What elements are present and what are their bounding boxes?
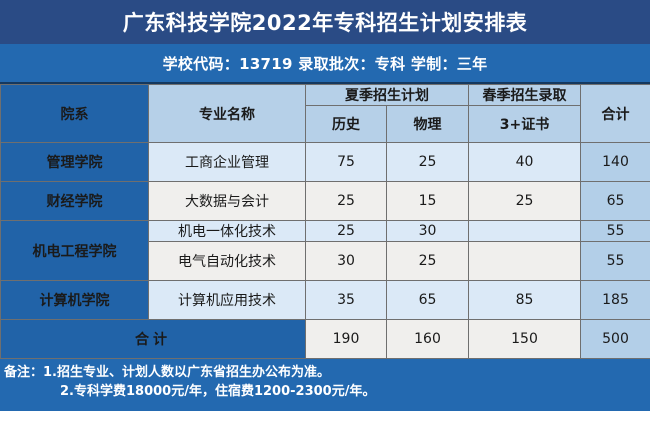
cell-cert [469,242,581,281]
cell-total-sum: 500 [581,320,650,359]
cell-major: 计算机应用技术 [149,281,306,320]
page-title: 广东科技学院2022年专科招生计划安排表 [0,0,650,44]
table-row: 财经学院 大数据与会计 25 15 25 65 [1,182,650,221]
table-header-row-1: 院系 专业名称 夏季招生计划 春季招生录取 合计 [1,85,650,106]
cell-physics: 15 [387,182,469,221]
note-line-2: 2.专科学费18000元/年，住宿费1200-2300元/年。 [4,382,650,401]
cell-major: 工商企业管理 [149,143,306,182]
cell-cert: 25 [469,182,581,221]
cell-total-cert: 150 [469,320,581,359]
cell-physics: 25 [387,143,469,182]
cell-dept: 管理学院 [1,143,149,182]
cell-physics: 30 [387,221,469,242]
table-total-row: 合计 190 160 150 500 [1,320,650,359]
column-header-spring-group: 春季招生录取 [469,85,581,106]
cell-major: 大数据与会计 [149,182,306,221]
cell-total: 55 [581,242,650,281]
cell-cert: 40 [469,143,581,182]
column-header-summer-group: 夏季招生计划 [306,85,469,106]
cell-cert [469,221,581,242]
cell-physics: 25 [387,242,469,281]
column-header-physics: 物理 [387,106,469,143]
cell-history: 30 [306,242,387,281]
table-row: 管理学院 工商企业管理 75 25 40 140 [1,143,650,182]
cell-total: 140 [581,143,650,182]
cell-total: 55 [581,221,650,242]
cell-total-label: 合计 [1,320,306,359]
column-header-history: 历史 [306,106,387,143]
enrollment-table: 院系 专业名称 夏季招生计划 春季招生录取 合计 历史 物理 3+证书 管理学院… [0,84,650,359]
table-row: 机电工程学院 机电一体化技术 25 30 55 [1,221,650,242]
column-header-total: 合计 [581,85,650,143]
note-line-1: 备注：1.招生专业、计划人数以广东省招生办公布为准。 [4,363,650,382]
cell-dept: 计算机学院 [1,281,149,320]
cell-total: 65 [581,182,650,221]
school-info-subtitle: 学校代码：13719 录取批次：专科 学制：三年 [0,44,650,84]
cell-major: 电气自动化技术 [149,242,306,281]
column-header-cert: 3+证书 [469,106,581,143]
cell-physics: 65 [387,281,469,320]
cell-major: 机电一体化技术 [149,221,306,242]
cell-dept: 机电工程学院 [1,221,149,281]
cell-history: 35 [306,281,387,320]
cell-total-physics: 160 [387,320,469,359]
cell-cert: 85 [469,281,581,320]
cell-total: 185 [581,281,650,320]
cell-dept: 财经学院 [1,182,149,221]
cell-total-history: 190 [306,320,387,359]
cell-history: 25 [306,182,387,221]
cell-history: 75 [306,143,387,182]
footer-notes: 备注：1.招生专业、计划人数以广东省招生办公布为准。 2.专科学费18000元/… [0,359,650,411]
cell-history: 25 [306,221,387,242]
enrollment-plan-sheet: 广东科技学院2022年专科招生计划安排表 学校代码：13719 录取批次：专科 … [0,0,650,446]
column-header-major: 专业名称 [149,85,306,143]
column-header-dept: 院系 [1,85,149,143]
table-row: 计算机学院 计算机应用技术 35 65 85 185 [1,281,650,320]
